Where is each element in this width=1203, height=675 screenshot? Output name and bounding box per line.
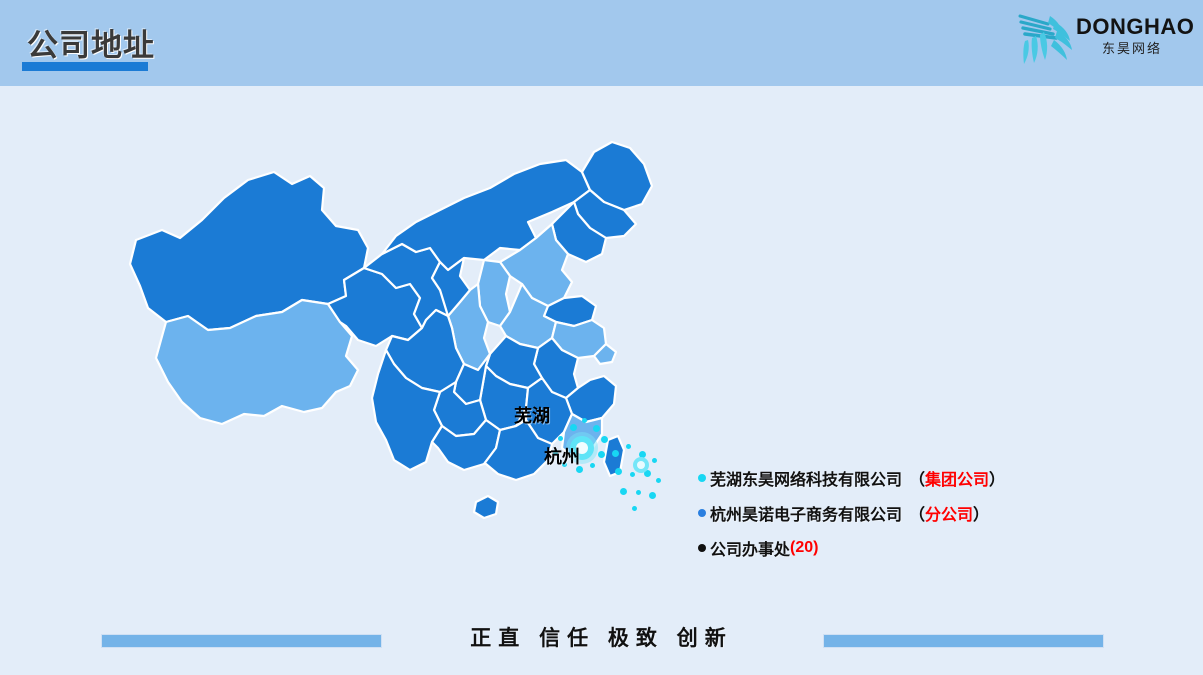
legend-open-paren: （ [909,501,925,525]
office-dot [558,436,563,441]
office-dot [636,490,641,495]
legend-open-paren: （ [909,466,925,490]
office-dot [582,418,587,423]
office-dot [652,458,657,463]
legend-item-label: 芜湖东昊网络科技有限公司 [710,466,902,490]
office-dot [615,468,622,475]
legend-bullet-icon [698,474,706,482]
legend-bullet-icon [698,544,706,552]
brand-logo: DONGHAO 东昊网络 [1014,8,1189,70]
office-dot [620,488,627,495]
office-dot [598,451,605,458]
legend-close-paren: ） [973,501,989,525]
legend-item-label: 杭州昊诺电子商务有限公司 [710,501,902,525]
legend-close-paren: ） [989,466,1005,490]
office-dot [656,478,661,483]
legend-item-count: (20) [790,539,818,557]
donghao-feather-logo-icon [1014,10,1076,68]
office-dot [632,506,637,511]
office-dot [626,444,631,449]
office-dot [593,425,600,432]
legend-item-branch-company: 杭州昊诺电子商务有限公司 （ 分公司 ） [698,495,1118,530]
office-dot [649,492,656,499]
legend-bullet-icon [698,509,706,517]
legend-item-tag: 集团公司 [925,466,989,490]
logo-name: DONGHAO [1076,14,1188,40]
map-label-wuhu: 芜湖 [514,402,550,428]
office-dot [590,463,595,468]
title-underline-accent [22,62,148,71]
china-map-svg [96,130,676,620]
page-title: 公司地址 [27,20,155,65]
office-dot [630,472,635,477]
legend-item-tag: 分公司 [925,501,973,525]
footer-decoration-bar-left [101,634,382,648]
office-dot [601,436,608,443]
branch-marker-hangzhou[interactable] [633,457,649,473]
footer-decoration-bar-right [823,634,1104,648]
map-label-hangzhou: 杭州 [544,443,580,469]
logo-subtitle: 东昊网络 [1076,40,1188,58]
office-dot [570,424,577,431]
office-dot [612,450,619,457]
china-map-container: 芜湖 杭州 [96,130,676,620]
legend-item-offices: 公司办事处 (20) [698,530,1118,565]
legend-list: 芜湖东昊网络科技有限公司 （ 集团公司 ） 杭州昊诺电子商务有限公司 （ 分公司… [698,460,1118,565]
legend-item-group-company: 芜湖东昊网络科技有限公司 （ 集团公司 ） [698,460,1118,495]
legend-item-label: 公司办事处 [710,536,790,560]
